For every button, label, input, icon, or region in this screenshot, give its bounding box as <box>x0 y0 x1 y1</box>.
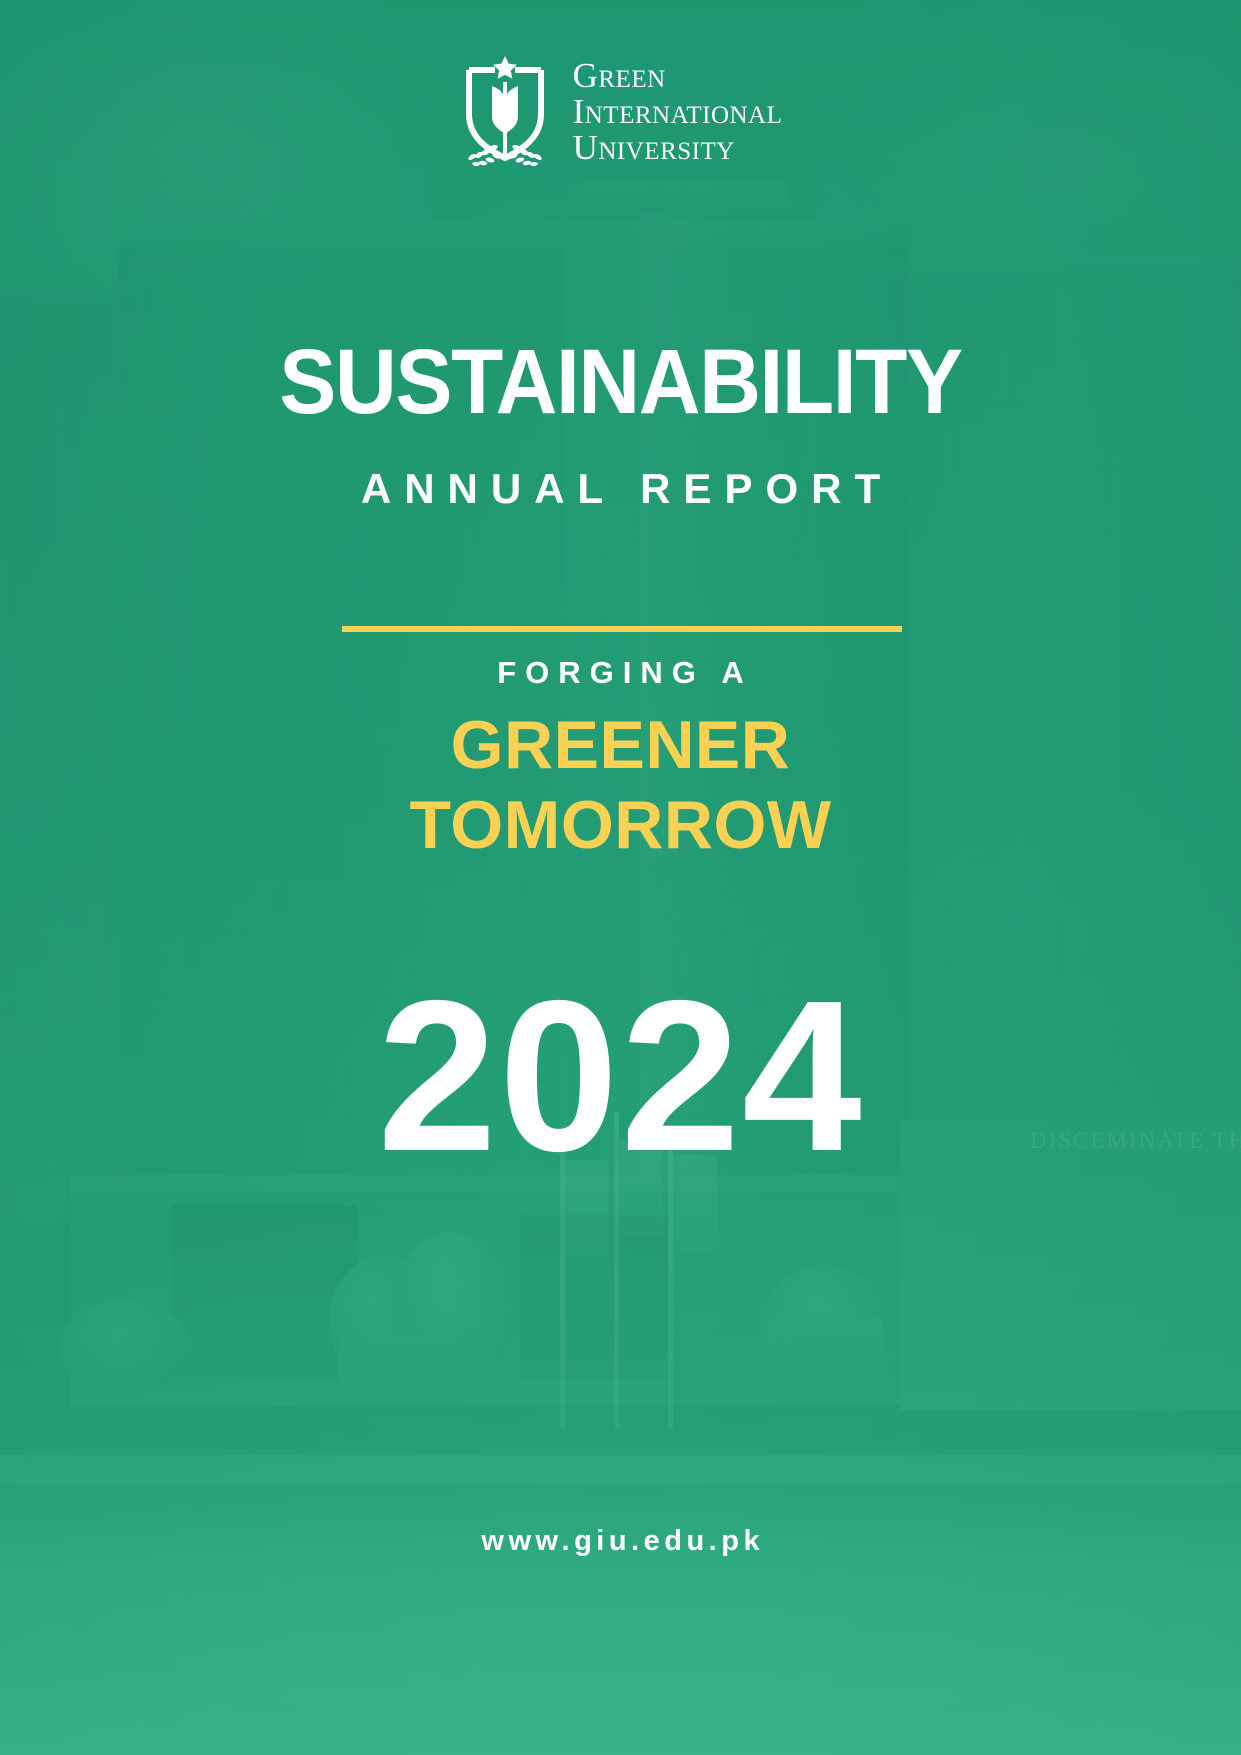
cover-title: SUSTAINABILITY <box>43 336 1197 428</box>
tagline-lead: FORGING A <box>0 657 1241 688</box>
tagline-line-1: GREENER <box>0 706 1241 786</box>
logo-line-3: University <box>573 130 783 166</box>
yellow-divider-rule <box>342 626 902 632</box>
report-year: 2024 <box>0 968 1241 1183</box>
university-name: Green International University <box>573 58 783 166</box>
tagline-line-2: TOMORROW <box>0 786 1241 866</box>
shield-crest-icon <box>459 56 551 168</box>
tagline-highlight: GREENER TOMORROW <box>0 706 1241 865</box>
cover-subtitle: ANNUAL REPORT <box>0 468 1241 510</box>
report-cover-page: DISCEMINATE TH <box>0 0 1241 1755</box>
logo-line-2: International <box>573 94 783 130</box>
cover-content: Green International University SUSTAINAB… <box>0 0 1241 1755</box>
logo-line-1: Green <box>573 58 783 94</box>
website-url[interactable]: www.giu.edu.pk <box>0 1525 1241 1558</box>
university-logo: Green International University <box>0 56 1241 168</box>
